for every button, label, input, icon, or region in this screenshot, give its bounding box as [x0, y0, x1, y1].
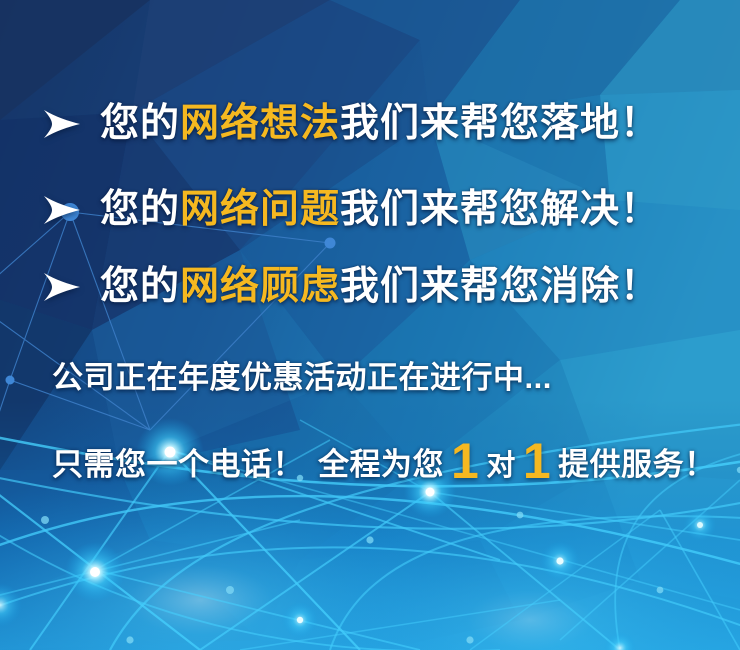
subtext-2-part-2: 全程为您: [318, 449, 444, 480]
promo-banner: 您的网络想法我们来帮您落地！ 您的网络问题我们来帮您解决！ 您的网络顾虑我们来帮…: [0, 0, 740, 650]
headline-3-prefix: 您的: [100, 265, 180, 308]
headline-2-prefix: 您的: [100, 188, 180, 231]
headline-1-prefix: 您的: [100, 102, 180, 145]
headline-row-1: 您的网络想法我们来帮您落地！: [42, 104, 660, 143]
subtext-2-part-1: 只需您一个电话！: [52, 449, 304, 480]
headline-text-1: 您的网络想法我们来帮您落地！: [100, 104, 660, 143]
headline-row-2: 您的网络问题我们来帮您解决！: [42, 190, 660, 229]
headline-1-highlight: 网络想法: [180, 102, 340, 145]
service-number-one-b: 1: [523, 436, 551, 486]
promo-subtext-line-2: 只需您一个电话！ 全程为您 1 对 1 提供服务！: [52, 433, 716, 483]
headline-text-2: 您的网络问题我们来帮您解决！: [100, 190, 660, 229]
headline-3-suffix: 我们来帮您消除！: [340, 265, 660, 308]
arrow-right-icon: [42, 193, 82, 227]
subtext-2-part-3: 提供服务！: [558, 449, 716, 480]
promo-subtext-line-1: 公司正在年度优惠活动正在进行中...: [52, 362, 552, 393]
arrow-right-icon: [42, 270, 82, 304]
headline-text-3: 您的网络顾虑我们来帮您消除！: [100, 267, 660, 306]
service-number-one-a: 1: [451, 436, 479, 486]
arrow-right-icon: [42, 107, 82, 141]
headline-2-suffix: 我们来帮您解决！: [340, 188, 660, 231]
banner-content: 您的网络想法我们来帮您落地！ 您的网络问题我们来帮您解决！ 您的网络顾虑我们来帮…: [0, 0, 740, 650]
headline-2-highlight: 网络问题: [180, 188, 340, 231]
headline-1-suffix: 我们来帮您落地！: [340, 102, 660, 145]
subtext-2-connector: 对: [486, 452, 516, 481]
headline-3-highlight: 网络顾虑: [180, 265, 340, 308]
headline-row-3: 您的网络顾虑我们来帮您消除！: [42, 267, 660, 306]
